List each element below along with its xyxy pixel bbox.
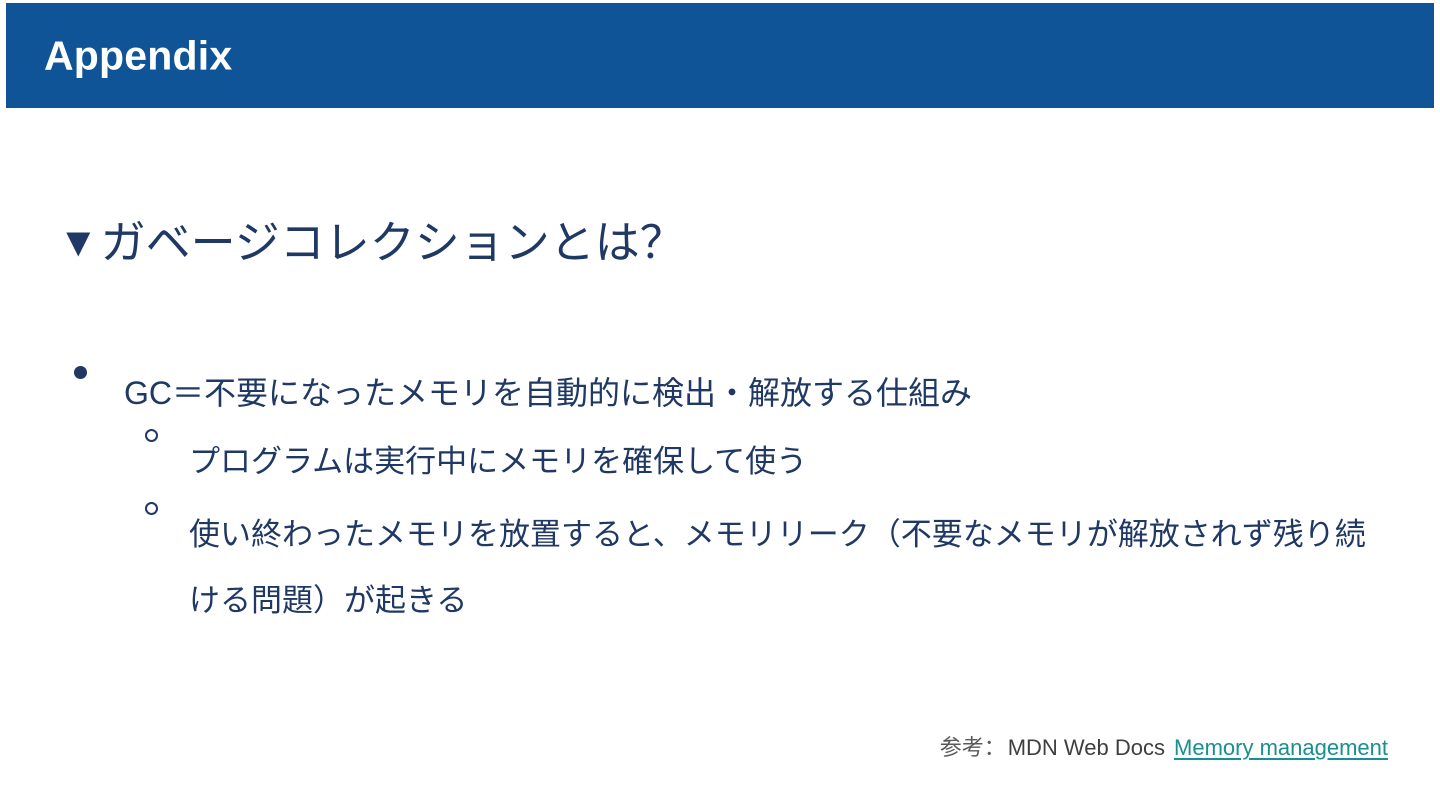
list-item-text: 使い終わったメモリを放置すると、メモリリーク（不要なメモリが解放されず残り続ける…	[189, 502, 1392, 634]
list-item-text: プログラムは実行中にメモリを確保して使う	[189, 429, 1392, 494]
list-item: プログラムは実行中にメモリを確保して使う	[62, 429, 1392, 494]
reference-label: 参考：	[940, 730, 1006, 762]
bullet-marker-hollow-circle	[133, 429, 189, 442]
bullet-marker-filled-circle	[62, 366, 124, 379]
list-item: GC＝不要になったメモリを自動的に検出・解放する仕組み	[62, 366, 1392, 420]
section-heading: ▼ガベージコレクションとは？	[58, 215, 685, 271]
page-title: Appendix	[44, 35, 232, 76]
footer-reference: 参考： MDN Web Docs Memory management	[940, 730, 1388, 762]
section-heading-label: ガベージコレクションとは？	[101, 215, 685, 271]
bullet-marker-hollow-circle	[133, 502, 189, 515]
bullet-list: GC＝不要になったメモリを自動的に検出・解放する仕組み プログラムは実行中にメモ…	[62, 366, 1392, 642]
slide-header-band: Appendix	[6, 3, 1434, 108]
memory-management-link[interactable]: Memory management	[1174, 735, 1388, 761]
list-item: 使い終わったメモリを放置すると、メモリリーク（不要なメモリが解放されず残り続ける…	[62, 502, 1392, 634]
triangle-down-icon: ▼	[58, 222, 99, 263]
reference-source: MDN Web Docs	[1008, 735, 1165, 761]
list-item-text: GC＝不要になったメモリを自動的に検出・解放する仕組み	[124, 366, 1392, 420]
